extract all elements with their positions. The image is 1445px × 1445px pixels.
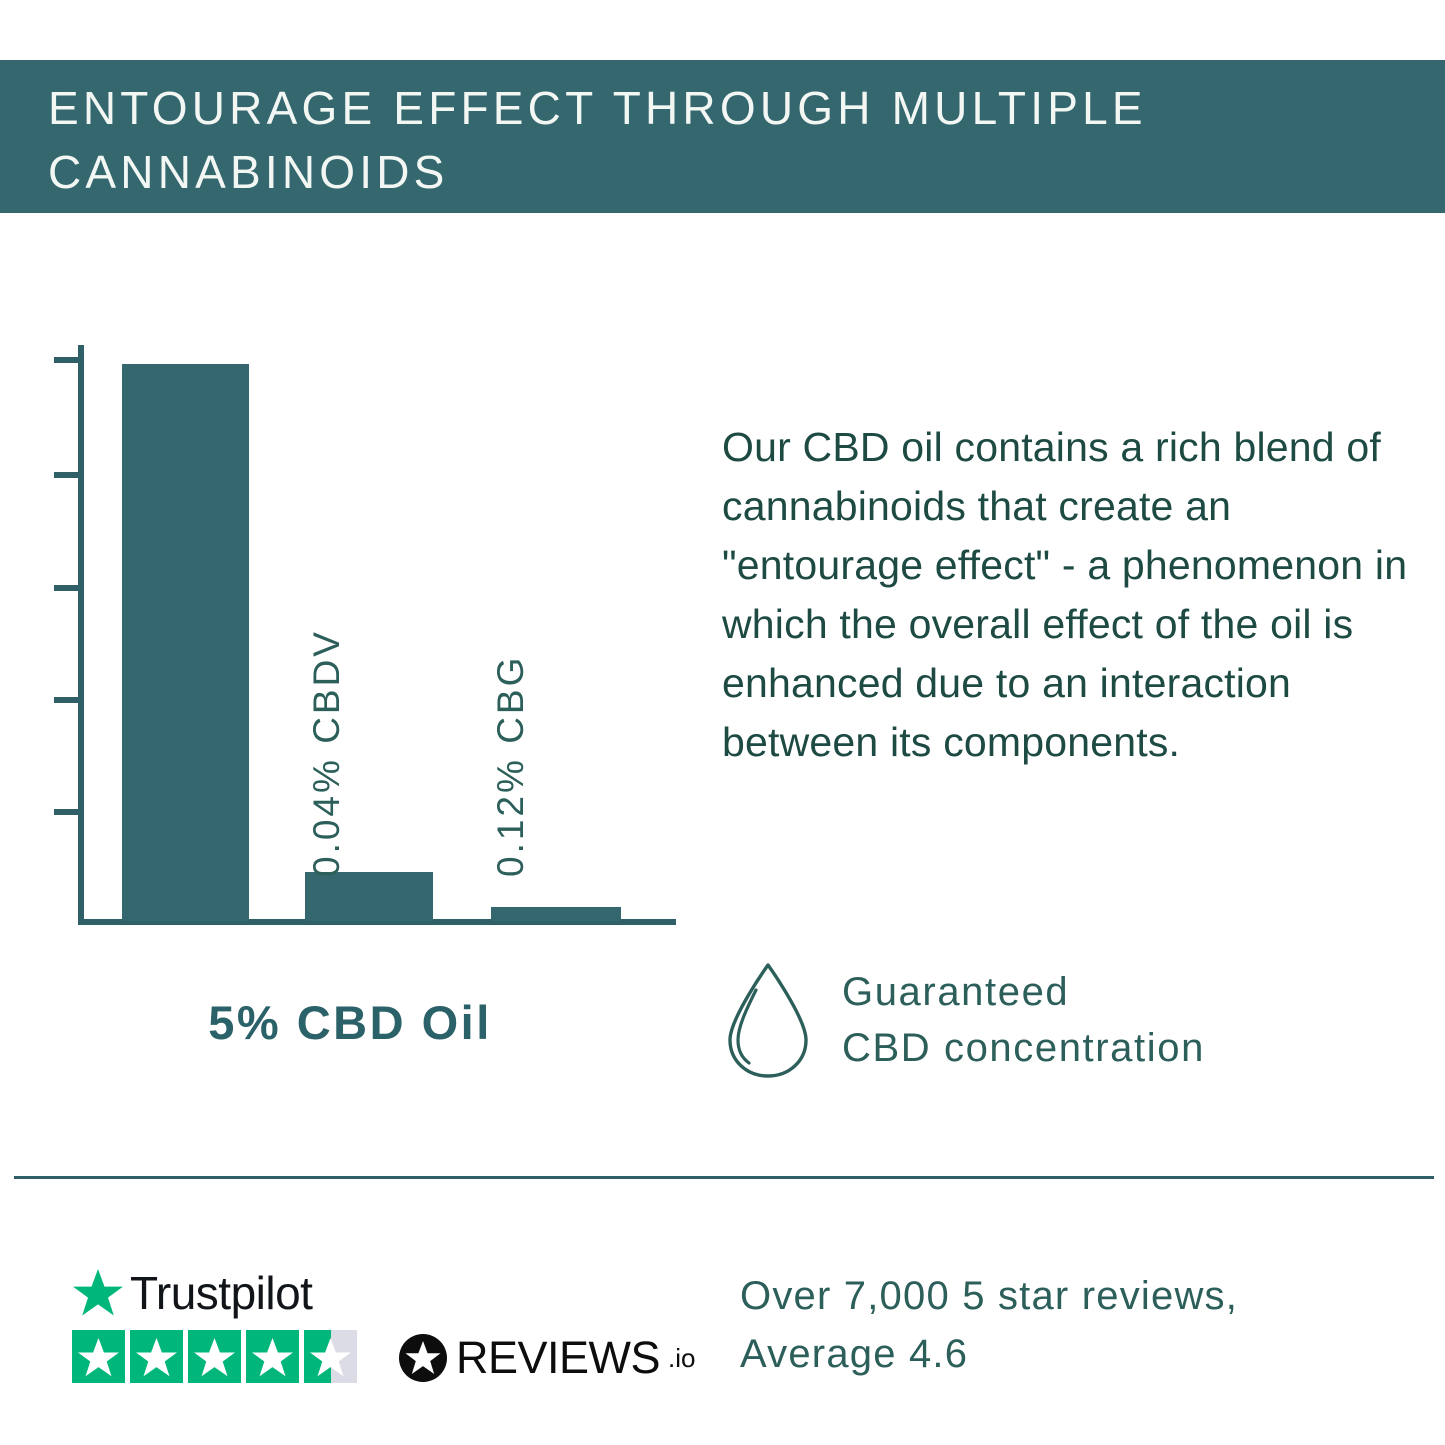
chart-plot-area: 5.63% CBD 0.04% CBDV 0.12% CBG bbox=[0, 330, 700, 950]
trustpilot-name: Trustpilot bbox=[130, 1268, 312, 1318]
y-axis-tick-5 bbox=[54, 357, 84, 363]
trustpilot-star-1 bbox=[72, 1330, 125, 1383]
trustpilot-star-rating bbox=[72, 1330, 372, 1383]
y-axis-tick-1 bbox=[54, 809, 84, 815]
bar-cbd[interactable] bbox=[122, 364, 249, 921]
bar-cbg[interactable] bbox=[491, 907, 621, 921]
guarantee-label: Guaranteed CBD concentration bbox=[842, 964, 1205, 1076]
bar-cbdv[interactable] bbox=[305, 872, 433, 921]
bar-label-cbdv: 0.04% CBDV bbox=[306, 629, 348, 877]
droplet-icon bbox=[722, 960, 814, 1080]
trustpilot-star-2 bbox=[130, 1330, 183, 1383]
trustpilot-star-4 bbox=[246, 1330, 299, 1383]
reviewsio-tld: .io bbox=[668, 1335, 695, 1381]
y-axis-tick-3 bbox=[54, 585, 84, 591]
guarantee-row: Guaranteed CBD concentration bbox=[722, 960, 1362, 1080]
reviews-summary-text: Over 7,000 5 star reviews, Average 4.6 bbox=[740, 1267, 1400, 1383]
y-axis-line bbox=[78, 345, 84, 925]
trustpilot-star-icon bbox=[72, 1267, 124, 1319]
trustpilot-logo[interactable]: Trustpilot bbox=[72, 1265, 372, 1383]
y-axis-tick-4 bbox=[54, 472, 84, 478]
reviewsio-wordmark: REVIEWS bbox=[456, 1335, 660, 1381]
trustpilot-star-5-half bbox=[304, 1330, 357, 1383]
trustpilot-wordmark: Trustpilot bbox=[72, 1265, 372, 1321]
trustpilot-star-3 bbox=[188, 1330, 241, 1383]
description-paragraph: Our CBD oil contains a rich blend of can… bbox=[722, 418, 1412, 772]
header-banner: Entourage effect through multiple cannab… bbox=[0, 60, 1445, 213]
page-title: Entourage effect through multiple cannab… bbox=[48, 76, 1408, 204]
y-axis-tick-2 bbox=[54, 697, 84, 703]
chart-caption: 5% CBD Oil bbox=[0, 995, 700, 1050]
section-divider bbox=[14, 1176, 1434, 1179]
bar-label-cbg: 0.12% CBG bbox=[490, 655, 532, 877]
reviewsio-star-badge-icon bbox=[398, 1333, 448, 1383]
reviewsio-logo[interactable]: REVIEWS .io bbox=[398, 1333, 696, 1383]
footer: Trustpilot bbox=[0, 1255, 1445, 1435]
cannabinoid-bar-chart: 5.63% CBD 0.04% CBDV 0.12% CBG bbox=[0, 330, 700, 950]
